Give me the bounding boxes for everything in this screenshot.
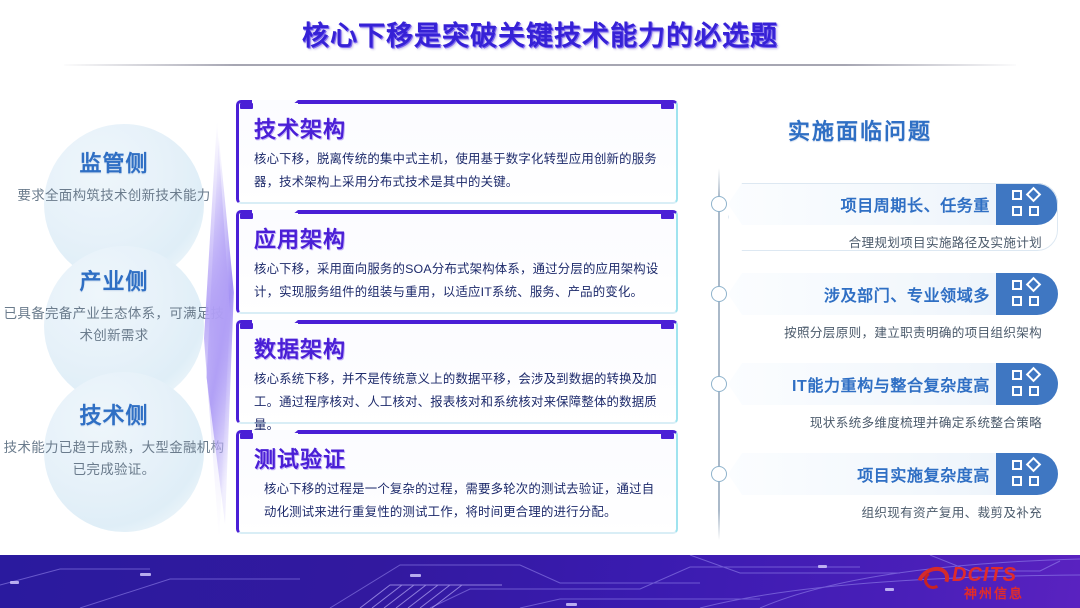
card-body: 核心下移，采用面向服务的SOA分布式架构体系，通过分层的应用架构设计，实现服务组… [254,258,664,304]
problem-item-1[interactable]: 项目周期长、任务重 合理规划项目实施路径及实施计划 [728,183,1058,251]
card-topbar [298,210,662,214]
sidebar-item-title: 技术侧 [0,398,228,430]
company-logo: DCITS 神州信息 [916,562,1066,602]
card-notch-left-icon [240,433,253,439]
card-topbar [298,100,662,104]
sidebar-item-title: 产业侧 [0,264,228,296]
problem-sub: 现状系统多维度梳理并确定系统整合策略 [728,412,1058,431]
title-divider [64,64,1016,66]
problem-bar: 涉及部门、专业领域多 [728,273,1058,315]
problem-label: 项目实施复杂度高 [857,453,990,495]
page-title: 核心下移是突破关键技术能力的必选题 [0,14,1080,53]
card-notch-left-icon [240,103,253,109]
timeline-dot-2 [711,286,727,302]
sidebar-item-desc: 技术能力已趋于成熟，大型金融机构已完成验证。 [0,437,228,481]
sidebar-item-regulatory: 监管侧 要求全面构筑技术创新技术能力 [0,146,228,207]
problem-label: IT能力重构与整合复杂度高 [792,363,990,405]
timeline-dot-1 [711,196,727,212]
card-body: 核心下移，脱离传统的集中式主机，使用基于数字化转型应用创新的服务器，技术架构上采… [254,148,664,194]
problem-item-4[interactable]: 项目实施复杂度高 组织现有资产复用、裁剪及补充 [728,453,1058,521]
card-title: 应用架构 [254,222,346,254]
problem-sub: 合理规划项目实施路径及实施计划 [728,232,1058,251]
card-notch-left-icon [240,213,253,219]
sidebar-item-desc: 已具备完备产业生态体系，可满足技术创新需求 [0,303,228,347]
grid-shapes-icon [996,183,1058,225]
card-title: 测试验证 [254,442,346,474]
card-notch-right-icon [661,433,674,439]
problem-bar: 项目实施复杂度高 [728,453,1058,495]
sidebar-item-desc: 要求全面构筑技术创新技术能力 [0,185,228,207]
card-title: 数据架构 [254,332,346,364]
problem-label: 涉及部门、专业领域多 [824,273,990,315]
card-topbar [298,320,662,324]
problem-label: 项目周期长、任务重 [841,183,990,225]
footer-band: DCITS 神州信息 [0,555,1080,608]
problem-sub: 组织现有资产复用、裁剪及补充 [728,502,1058,521]
card-body: 核心下移的过程是一个复杂的过程，需要多轮次的测试去验证，通过自动化测试来进行重复… [264,478,664,524]
right-column: 实施面临问题 项目周期长、任务重 合理规划项目实施路径及实施计划 涉及部门、专业… [690,100,1062,540]
card-app-architecture[interactable]: 应用架构 核心下移，采用面向服务的SOA分布式架构体系，通过分层的应用架构设计，… [236,210,678,314]
card-notch-right-icon [661,213,674,219]
card-body: 核心系统下移，并不是传统意义上的数据平移，会涉及到数据的转换及加工。通过程序核对… [254,368,664,437]
logo-wordmark-cn: 神州信息 [964,583,1024,602]
card-notch-right-icon [661,323,674,329]
card-topbar [298,430,662,434]
right-column-heading: 实施面临问题 [690,114,1030,146]
sidebar-item-technology: 技术侧 技术能力已趋于成熟，大型金融机构已完成验证。 [0,398,228,481]
problem-item-3[interactable]: IT能力重构与整合复杂度高 现状系统多维度梳理并确定系统整合策略 [728,363,1058,431]
grid-shapes-icon [996,273,1058,315]
problem-bar: IT能力重构与整合复杂度高 [728,363,1058,405]
grid-shapes-icon [996,453,1058,495]
problem-bar: 项目周期长、任务重 [728,183,1058,225]
card-notch-right-icon [661,103,674,109]
problem-item-2[interactable]: 涉及部门、专业领域多 按照分层原则，建立职责明确的项目组织架构 [728,273,1058,341]
card-tech-architecture[interactable]: 技术架构 核心下移，脱离传统的集中式主机，使用基于数字化转型应用创新的服务器，技… [236,100,678,204]
card-data-architecture[interactable]: 数据架构 核心系统下移，并不是传统意义上的数据平移，会涉及到数据的转换及加工。通… [236,320,678,424]
timeline-axis [718,168,720,540]
sidebar-item-title: 监管侧 [0,146,228,178]
problem-sub: 按照分层原则，建立职责明确的项目组织架构 [728,322,1058,341]
timeline-dot-3 [711,376,727,392]
sidebar-item-industry: 产业侧 已具备完备产业生态体系，可满足技术创新需求 [0,264,228,347]
left-column: 监管侧 要求全面构筑技术创新技术能力 产业侧 已具备完备产业生态体系，可满足技术… [0,96,232,546]
timeline-dot-4 [711,466,727,482]
card-notch-left-icon [240,323,253,329]
card-test-verification[interactable]: 测试验证 核心下移的过程是一个复杂的过程，需要多轮次的测试去验证，通过自动化测试… [236,430,678,534]
grid-shapes-icon [996,363,1058,405]
architecture-card-list: 技术架构 核心下移，脱离传统的集中式主机，使用基于数字化转型应用创新的服务器，技… [236,100,678,540]
card-title: 技术架构 [254,112,346,144]
